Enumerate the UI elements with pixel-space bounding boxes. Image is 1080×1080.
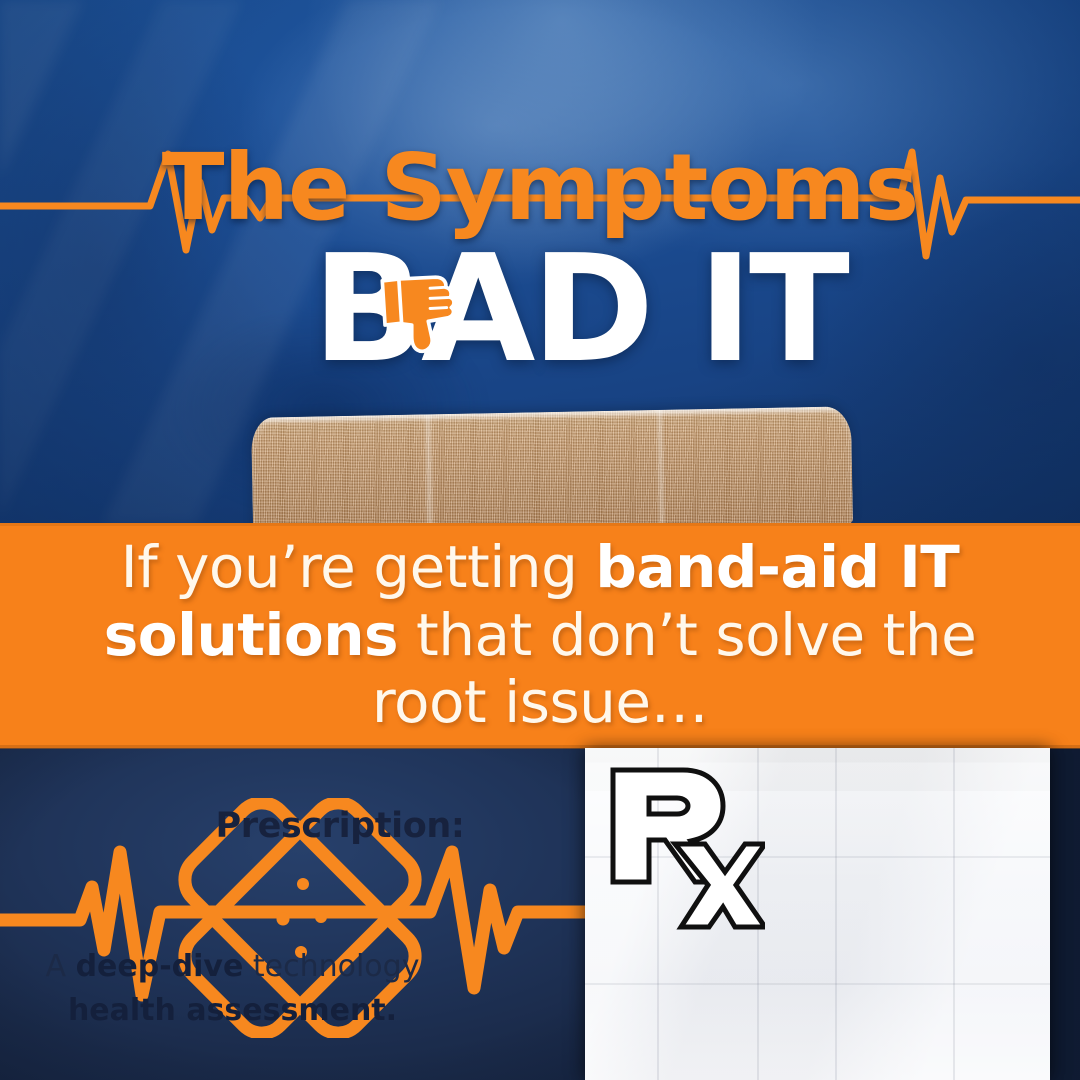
paper-fold <box>835 748 837 1080</box>
band-text-part-2: that don’t solve the <box>398 601 976 669</box>
rx-body-bold-1: deep-dive <box>76 949 244 984</box>
poster-canvas: The Symptoms of BAD IT If you’re getting… <box>0 0 1080 1080</box>
paper-fold-horizontal <box>585 983 1050 985</box>
band-text-bold-1: band-aid IT <box>595 533 959 601</box>
prescription-body-text: A deep-dive technology health assessment… <box>20 945 445 1032</box>
band-text-part-3: root issue… <box>372 668 708 736</box>
rx-symbol-icon <box>605 764 765 934</box>
orange-message-band: If you’re getting band-aid IT solutions … <box>0 523 1080 748</box>
prescription-heading: Prescription: <box>190 806 490 846</box>
band-message-text: If you’re getting band-aid IT solutions … <box>35 534 1045 738</box>
paper-fold <box>953 748 955 1080</box>
hero-title-block: The Symptoms <box>0 142 1080 234</box>
title-line-symptoms: The Symptoms <box>0 142 1080 234</box>
prescription-paper <box>585 748 1050 1080</box>
band-text-bold-2: solutions <box>104 601 398 669</box>
band-text-part-1: If you’re getting <box>121 533 596 601</box>
thumbs-down-icon <box>374 268 466 360</box>
band-top-divider <box>0 523 1080 526</box>
rx-body-bold-2: health assessment. <box>68 993 397 1028</box>
rx-body-mid: technology <box>243 949 419 984</box>
rx-body-lead: A <box>46 949 76 984</box>
